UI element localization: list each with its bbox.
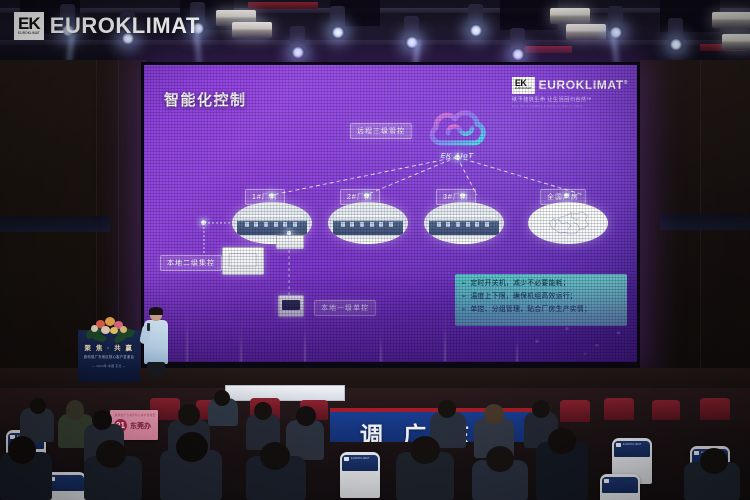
branded-chair: EUROKLIMAT: [340, 452, 380, 498]
brand-name: EUROKLIMAT®: [539, 78, 628, 92]
audience-member: [92, 410, 112, 430]
auditorium-seat: [604, 398, 634, 420]
head-table: [225, 385, 345, 401]
podium-subline2: — 2024年·中国 东莞 —: [78, 364, 140, 368]
wall-dark-band: [660, 214, 750, 230]
microphone-icon: [147, 323, 150, 331]
node-dot-4: [564, 193, 569, 198]
stage-spotlight: [468, 4, 483, 30]
stage-spotlight: [510, 28, 525, 54]
audience-member-front: [8, 436, 36, 464]
audience-member: [30, 398, 46, 414]
ceiling-panel-light: [712, 12, 750, 28]
screenshot-root: 智能化控制 EK EUROKLIMAT EUROKLIMAT® 赋予建筑生命 让…: [0, 0, 750, 500]
audience-member-front: [548, 428, 576, 454]
l2-connector-dot: [201, 220, 206, 225]
audience-member: [438, 400, 456, 418]
stage-spotlight: [608, 6, 623, 32]
audience-member-front: [176, 432, 208, 462]
branded-chair: [600, 474, 640, 500]
slide-canvas: 智能化控制 EK EUROKLIMAT EUROKLIMAT® 赋予建筑生命 让…: [144, 65, 637, 362]
table-sign-text: 东莞办: [130, 421, 151, 431]
auditorium-seat: [652, 400, 680, 420]
brand-tagline-en: Give life to building & being us back to…: [512, 104, 628, 108]
chair-brand-name: EUROKLIMAT: [623, 443, 642, 446]
auditorium-seat: [560, 400, 590, 422]
ceiling-panel-light: [566, 24, 606, 40]
audience-member: [484, 404, 504, 424]
audience-member: [66, 400, 84, 420]
stage-spotlight: [290, 26, 305, 52]
china-map-icon: [542, 208, 594, 238]
slide-title: 智能化控制: [164, 89, 247, 110]
flower-arrangement: [86, 314, 134, 340]
audience-member: [532, 400, 550, 418]
wall-dark-band: [0, 216, 110, 232]
audience-member-front: [486, 446, 514, 472]
factory-thumb-2: [328, 202, 408, 244]
ceiling-panel-light: [550, 8, 590, 24]
audience-member: [214, 390, 230, 406]
audience-member-front: [96, 440, 126, 468]
watermark-name: EUROKLIMAT: [50, 13, 200, 39]
audience-member: [286, 420, 324, 460]
stage-spotlight: [404, 16, 419, 42]
watermark-ek-icon: EK EUROKLIMAT: [14, 12, 44, 40]
stage-spotlight: [330, 6, 345, 32]
auditorium-seat: [700, 398, 730, 420]
audience-member: [178, 404, 200, 426]
slide-brand-logo: EK EUROKLIMAT EUROKLIMAT® 赋予建筑生命 让生活回归自然…: [512, 77, 628, 108]
audience-member-front: [260, 442, 290, 470]
led-presentation-screen: 智能化控制 EK EUROKLIMAT EUROKLIMAT® 赋予建筑生命 让…: [141, 62, 640, 370]
chair-brand-name: EUROKLIMAT: [351, 457, 370, 460]
podium-subline: 欧科德广东地区核心客户答谢会: [78, 354, 140, 359]
node-dot-3: [460, 193, 465, 198]
cloud-aiot-icon: [426, 103, 488, 153]
table-sign-toptext: 欧科德广东地区核心客户答谢会: [115, 413, 156, 417]
node-dot-1: [269, 193, 274, 198]
presenter: [143, 308, 169, 374]
audience-member-front: [700, 448, 728, 474]
audience-member: [296, 406, 316, 426]
ceiling-panel-light: [232, 22, 272, 38]
ek-aiot-cloud-node: EK AIoT: [426, 103, 488, 161]
podium-headline: 聚 焦 · 共 赢: [78, 342, 140, 352]
stage-spotlight: [668, 18, 683, 44]
control-box: [276, 235, 304, 249]
branded-chair: [46, 472, 86, 500]
control-box-dot: [287, 231, 291, 235]
controller-panel-l2: [222, 247, 264, 275]
ek-mark-icon: EK EUROKLIMAT: [512, 77, 535, 94]
cloud-connector-dot: [455, 155, 460, 160]
watermark-logo: EK EUROKLIMAT EUROKLIMAT: [14, 12, 200, 40]
tag-local-l2: 本地二级集控: [160, 255, 222, 271]
ceiling-panel-light: [722, 34, 750, 50]
node-dot-2: [364, 193, 369, 198]
audience-member: [254, 402, 272, 420]
tag-remote-control: 远程三级管控: [350, 123, 412, 139]
brand-tagline-cn: 赋予建筑生命 让生活回归自然™: [512, 96, 628, 103]
audience-member-front: [410, 436, 440, 464]
factory-thumb-3: [424, 202, 504, 244]
china-map-thumb: [528, 202, 608, 244]
